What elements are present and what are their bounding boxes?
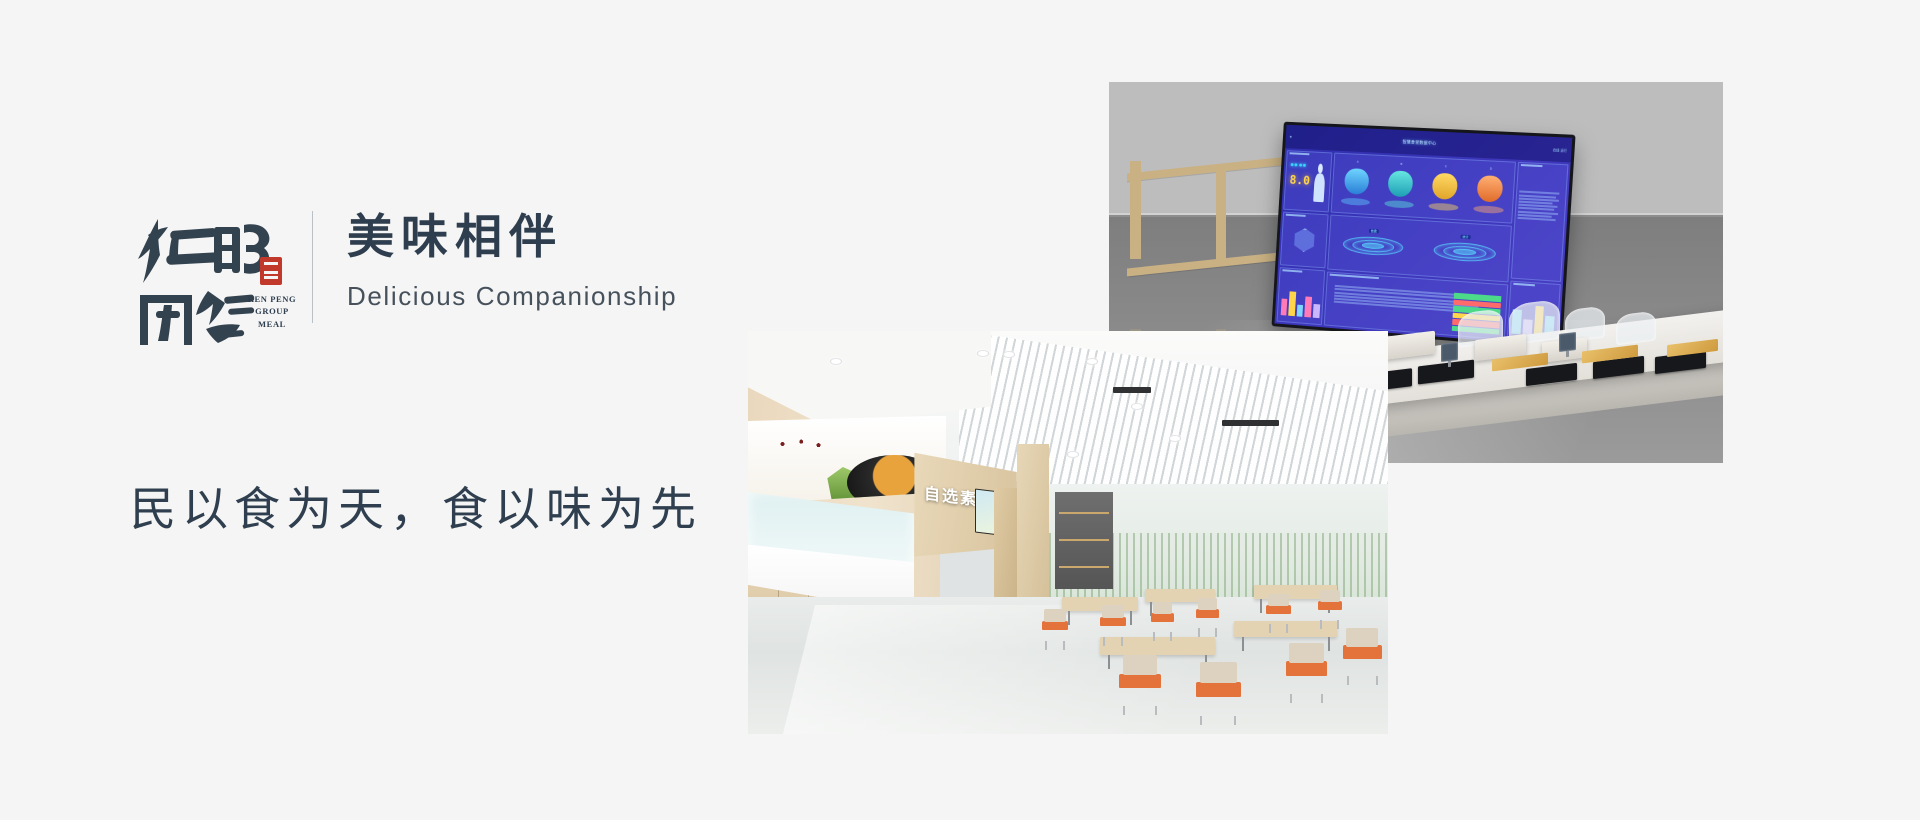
- cafeteria-interior-photo: 自选素菜: [748, 331, 1388, 734]
- slogan-text: 民以食为天，食以味为先: [130, 473, 702, 539]
- dashboard-radar-panel: 数据 统计: [1327, 215, 1512, 282]
- dining-chair-1: [1042, 621, 1068, 641]
- dashboard-title: 智慧食堂数据中心: [1402, 139, 1436, 147]
- brand-en-line-3: MEAL: [240, 318, 304, 330]
- brand-divider: [312, 211, 313, 323]
- radar-ring-2: 统计: [1418, 221, 1510, 280]
- dining-chair-9: [1286, 661, 1328, 693]
- dining-chair-4: [1196, 609, 1219, 628]
- dashboard-score-panel: 8.0: [1283, 150, 1332, 212]
- dining-table-1: [1062, 597, 1139, 611]
- order-kiosk-3: [1441, 342, 1458, 368]
- lightbox-brand-mark: [760, 432, 835, 457]
- dashboard-hex-panel: [1280, 211, 1329, 268]
- medal-indicator-4: D: [1466, 165, 1513, 221]
- medal-indicator-1: A: [1334, 158, 1379, 213]
- ceiling-vent-1: [1113, 387, 1151, 393]
- hexagon-chart-icon: [1292, 227, 1316, 252]
- dashboard-status-tag: 在线 运行: [1552, 147, 1566, 153]
- downlight-5: [1132, 404, 1142, 409]
- dining-chair-2: [1100, 617, 1126, 637]
- dining-chair-8: [1196, 682, 1241, 716]
- brand-en-line-1: REN PENG: [240, 293, 304, 305]
- dining-chair-5: [1266, 605, 1290, 624]
- sneeze-guard-4: [1616, 310, 1656, 345]
- medal-indicator-3: C: [1421, 162, 1467, 218]
- downlight-7: [1068, 452, 1078, 457]
- dining-table-4: [1100, 637, 1215, 655]
- dashboard-left-column: 8.0: [1276, 150, 1332, 324]
- page-subtitle: Delicious Companionship: [347, 281, 677, 312]
- page-title: 美味相伴: [347, 211, 677, 264]
- page-root: REN PENG GROUP MEAL 美味相伴 Delicious Compa…: [0, 0, 1920, 820]
- title-column: 美味相伴 Delicious Companionship: [347, 205, 677, 312]
- radar-ring-1: 数据: [1328, 216, 1418, 274]
- dashboard-medals-panel: A B C: [1331, 153, 1516, 224]
- dining-chair-3: [1151, 613, 1174, 632]
- downlight-3: [1004, 352, 1014, 357]
- medal-indicator-2: B: [1377, 160, 1422, 215]
- bar-chart-left: [1280, 284, 1320, 318]
- dining-chair-7: [1119, 674, 1161, 706]
- divider-shelf: [1055, 492, 1113, 589]
- right-list-rows: [1514, 191, 1563, 274]
- ren-peng-calligraphy-logo: REN PENG GROUP MEAL: [128, 205, 278, 355]
- dashboard-logo-icon: ◈: [1289, 135, 1292, 139]
- red-seal-stamp: [260, 257, 282, 285]
- brand-en-line-2: GROUP: [240, 305, 304, 317]
- brand-row: REN PENG GROUP MEAL 美味相伴 Delicious Compa…: [128, 205, 677, 355]
- dining-chair-6: [1318, 601, 1342, 620]
- ceiling-vent-2: [1222, 420, 1280, 426]
- downlight-6: [1170, 436, 1180, 441]
- dashboard-list-panel: [1511, 162, 1568, 282]
- brand-english-name: REN PENG GROUP MEAL: [240, 293, 304, 330]
- rating-stars-icon: [1290, 163, 1306, 167]
- chef-avatar-icon: [1311, 162, 1329, 204]
- score-value: 8.0: [1289, 172, 1310, 187]
- dining-chair-10: [1343, 645, 1381, 675]
- order-kiosk-4: [1559, 332, 1576, 358]
